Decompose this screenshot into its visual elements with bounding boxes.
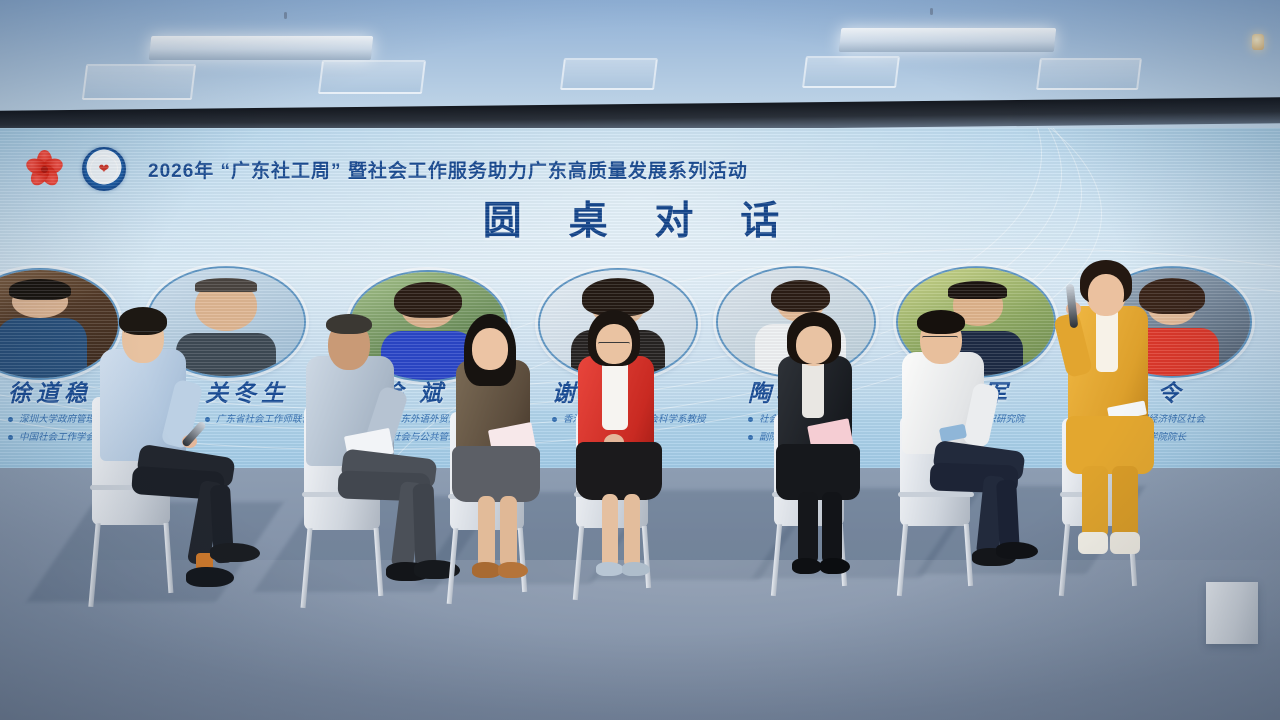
person-skirt xyxy=(452,446,540,502)
ceiling-panel-light xyxy=(839,28,1057,52)
person-shoe xyxy=(792,558,822,574)
ceiling xyxy=(0,0,1280,146)
white-pedestal-box xyxy=(1206,582,1258,644)
social-work-emblem-logo-icon: ❤ xyxy=(82,147,126,191)
red-flower-logo-icon xyxy=(24,149,64,189)
person-shoe xyxy=(1078,532,1108,554)
person-trousers xyxy=(1066,416,1154,474)
person-shin xyxy=(413,484,437,569)
panelist-figure xyxy=(86,335,276,605)
person-inner-top xyxy=(802,358,824,418)
person-shoe xyxy=(498,562,528,578)
ceiling-sprinkler-icon xyxy=(284,12,287,19)
person-face xyxy=(1088,274,1124,314)
ceiling-vent xyxy=(82,64,196,100)
person-shin xyxy=(478,496,495,568)
person-hair xyxy=(326,314,372,334)
panelist-figure xyxy=(562,340,727,588)
person-face xyxy=(796,326,832,364)
ceiling-panel-light xyxy=(149,36,374,60)
person-face xyxy=(472,328,508,370)
person-shin xyxy=(1112,466,1138,538)
glasses-icon xyxy=(922,336,958,342)
page-title: 圆 桌 对 话 xyxy=(0,190,1280,246)
wall-lamp-icon xyxy=(1252,34,1264,50)
glasses-icon xyxy=(124,331,160,337)
glasses-icon xyxy=(598,342,630,348)
panelist-figure xyxy=(1052,308,1222,578)
event-header-title: 2026年 “广东社工周” 暨社会工作服务助力广东高质量发展系列活动 xyxy=(148,156,748,183)
ceiling-sprinkler-icon xyxy=(930,8,933,15)
person-shin xyxy=(798,492,818,564)
person-shin xyxy=(822,492,842,564)
person-trousers xyxy=(776,444,860,500)
person-shin xyxy=(500,496,517,568)
conference-stage-photo: ❤ 2026年 “广东社工周” 暨社会工作服务助力广东高质量发展系列活动 圆 桌… xyxy=(0,0,1280,720)
person-skirt xyxy=(576,442,662,500)
person-shin xyxy=(624,494,640,568)
ceiling-vent xyxy=(318,60,426,94)
person-shoe xyxy=(596,562,624,576)
person-shoe xyxy=(622,562,650,576)
ceiling-vent xyxy=(802,56,900,88)
person-shoe xyxy=(820,558,850,574)
person-shoe xyxy=(186,567,234,587)
person-shin xyxy=(1082,466,1108,538)
person-shoe xyxy=(1110,532,1140,554)
person-shoe xyxy=(996,542,1038,559)
person-inner-top xyxy=(1096,308,1118,372)
event-header-row: ❤ 2026年 “广东社工周” 暨社会工作服务助力广东高质量发展系列活动 xyxy=(0,146,1280,192)
ceiling-vent xyxy=(1036,58,1142,90)
panelist-figure xyxy=(888,338,1058,580)
person-hair xyxy=(917,310,965,334)
person-inner-top xyxy=(602,358,628,430)
person-shoe xyxy=(210,543,260,562)
person-shin xyxy=(602,494,618,568)
ceiling-vent xyxy=(560,58,658,90)
